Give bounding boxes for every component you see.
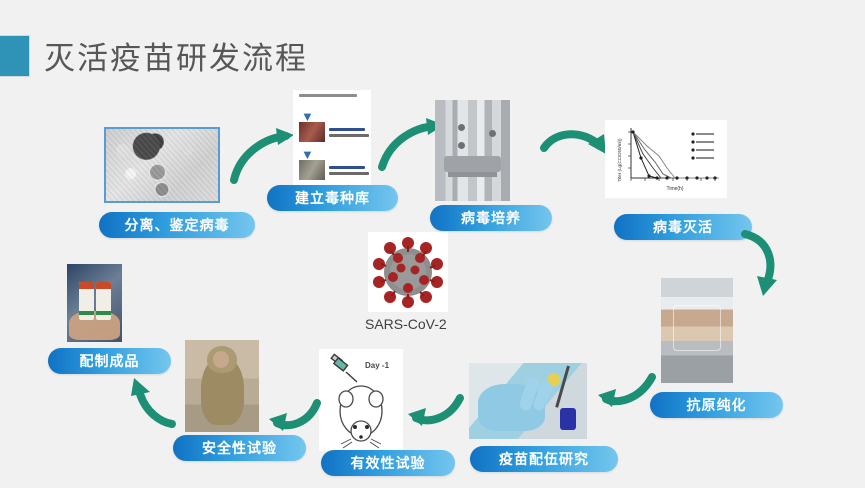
step-label-formulation[interactable]: 疫苗配伍研究 — [470, 446, 618, 472]
monkey-face-shape — [213, 351, 229, 368]
purification-column-inner — [661, 278, 733, 383]
purification-column-image — [661, 278, 733, 383]
step-label-efficacy-text: 有效性试验 — [351, 453, 426, 473]
step-label-isolate-text: 分离、鉴定病毒 — [125, 215, 230, 235]
step-label-culture[interactable]: 病毒培养 — [430, 205, 552, 231]
sars-cov-2-caption: SARS-CoV-2 — [365, 316, 447, 332]
step-label-safety-text: 安全性试验 — [202, 438, 277, 458]
formulation-inner — [469, 363, 587, 439]
virion-svg — [368, 232, 448, 312]
bioreactor-inner — [435, 100, 510, 201]
arrow-isolate-to-seedbank — [228, 126, 298, 186]
hand-shape — [69, 311, 120, 341]
sample-tube — [560, 408, 576, 430]
step-label-inactivation[interactable]: 病毒灭活 — [614, 214, 752, 240]
step-label-efficacy[interactable]: 有效性试验 — [321, 450, 455, 476]
product-vials-image — [67, 264, 122, 342]
pipette-icon — [556, 366, 571, 408]
vial-left — [79, 282, 94, 320]
step-label-product[interactable]: 配制成品 — [48, 348, 171, 374]
vial-right — [96, 282, 111, 320]
seedbank-header-row — [299, 94, 357, 97]
inactivation-chart-svg: Titer (Lg(CCID50/ml)) Time(h) — [605, 120, 727, 198]
step-label-seedbank[interactable]: 建立毒种库 — [267, 185, 398, 211]
bioreactor-image — [435, 100, 510, 201]
micrograph-image — [104, 127, 220, 203]
seedbank-cell-row-1 — [299, 122, 369, 142]
arrow-inactivation-to-purification — [735, 228, 791, 302]
step-label-isolate[interactable]: 分离、鉴定病毒 — [99, 212, 255, 238]
step-label-purification-text: 抗原纯化 — [687, 395, 747, 415]
seedbank-image: ▼ ▼ — [293, 90, 371, 190]
efficacy-mouse-image: Day -1 — [319, 349, 403, 451]
step-label-purification[interactable]: 抗原纯化 — [650, 392, 783, 418]
step-label-product-text: 配制成品 — [80, 351, 140, 371]
seedbank-cell-row-2 — [299, 160, 369, 180]
svg-text:Titer (Lg(CCID50/ml)): Titer (Lg(CCID50/ml)) — [617, 138, 622, 182]
step-label-formulation-text: 疫苗配伍研究 — [499, 449, 589, 469]
sars-cov-2-image — [368, 232, 448, 312]
step-label-safety[interactable]: 安全性试验 — [173, 435, 306, 461]
inactivation-chart-image: Titer (Lg(CCID50/ml)) Time(h) — [605, 120, 727, 198]
page-title: 灭活疫苗研发流程 — [44, 33, 308, 78]
slide-canvas: 灭活疫苗研发流程 分离、鉴定病毒 ▼ ▼ — [0, 0, 865, 488]
arrow-purification-to-formulation — [596, 365, 658, 417]
arrow-safety-to-product — [120, 372, 182, 438]
step-label-seedbank-text: 建立毒种库 — [295, 188, 370, 208]
mouse-day-label: Day -1 — [365, 361, 389, 370]
step-label-inactivation-text: 病毒灭活 — [653, 217, 713, 237]
step-label-culture-text: 病毒培养 — [461, 208, 521, 228]
formulation-image — [469, 363, 587, 439]
arrow-formulation-to-efficacy — [404, 388, 466, 436]
title-accent-square — [0, 35, 30, 77]
svg-text:Time(h): Time(h) — [666, 186, 683, 192]
monkey-inner — [185, 340, 259, 432]
mouse-diagram-svg — [319, 349, 403, 451]
safety-monkey-image — [185, 340, 259, 432]
micrograph-inner — [106, 129, 218, 201]
vials-inner — [67, 264, 122, 342]
